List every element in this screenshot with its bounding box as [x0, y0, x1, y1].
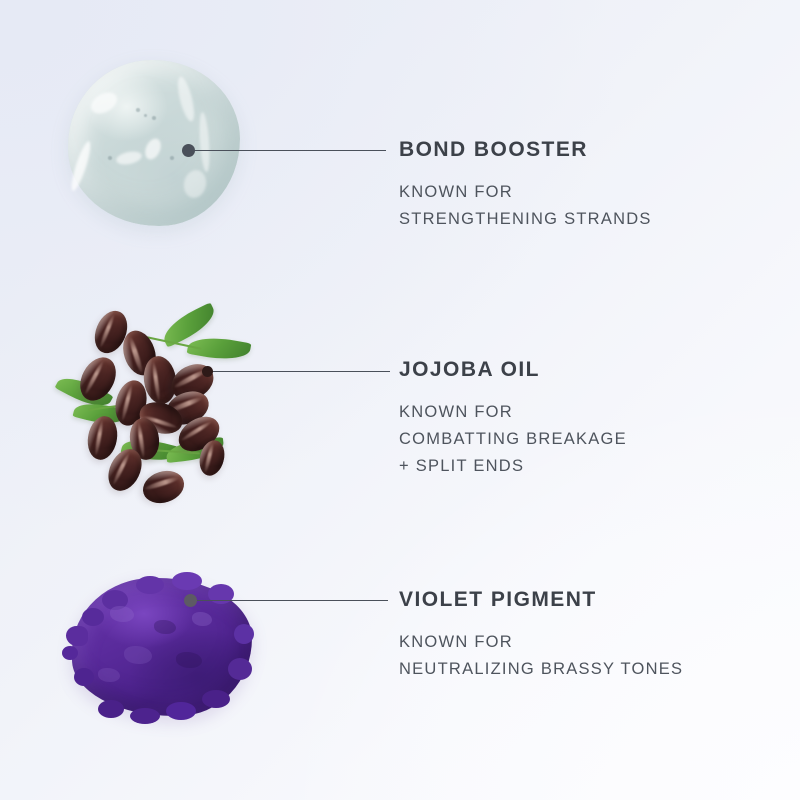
powder-grain-icon: [166, 702, 196, 720]
powder-texture-icon: [110, 606, 134, 622]
powder-grain-icon: [228, 658, 252, 680]
ingredient-text-bond-booster: BOND BOOSTER KNOWN FOR STRENGTHENING STR…: [399, 139, 652, 233]
powder-texture-icon: [192, 612, 212, 626]
powder-grain-icon: [172, 572, 202, 590]
ingredient-description: KNOWN FOR NEUTRALIZING BRASSY TONES: [399, 629, 683, 683]
powder-grain-icon: [202, 690, 230, 708]
powder-texture-icon: [176, 652, 202, 668]
ingredient-text-jojoba-oil: JOJOBA OIL KNOWN FOR COMBATTING BREAKAGE…: [399, 359, 627, 480]
leader-line-violet-pigment: [184, 594, 392, 608]
powder-grain-icon: [136, 576, 164, 594]
ingredient-title: BOND BOOSTER: [399, 139, 652, 160]
powder-grain-icon: [66, 626, 88, 646]
powder-grain-icon: [62, 646, 78, 660]
powder-grain-icon: [98, 700, 124, 718]
ingredient-description: KNOWN FOR STRENGTHENING STRANDS: [399, 179, 652, 233]
ingredient-title: VIOLET PIGMENT: [399, 589, 683, 610]
powder-grain-icon: [234, 624, 254, 644]
gel-speck-icon: [170, 156, 174, 160]
leader-line-bond-booster: [182, 144, 392, 158]
ingredient-title: JOJOBA OIL: [399, 359, 627, 380]
leader-line-jojoba-oil: [204, 365, 394, 379]
powder-grain-icon: [82, 608, 104, 626]
jojoba-seeds-image: [60, 300, 240, 505]
gel-speck-icon: [108, 156, 112, 160]
gel-speck-icon: [136, 108, 140, 112]
powder-grain-icon: [130, 708, 160, 724]
ingredient-text-violet-pigment: VIOLET PIGMENT KNOWN FOR NEUTRALIZING BR…: [399, 589, 683, 683]
powder-texture-icon: [124, 646, 152, 664]
ingredient-description: KNOWN FOR COMBATTING BREAKAGE + SPLIT EN…: [399, 399, 627, 480]
jojoba-seed-icon: [139, 466, 189, 508]
powder-texture-icon: [98, 668, 120, 682]
gel-speck-icon: [144, 114, 147, 117]
ingredient-infographic: BOND BOOSTER KNOWN FOR STRENGTHENING STR…: [0, 0, 800, 800]
gel-speck-icon: [152, 116, 156, 120]
powder-grain-icon: [74, 668, 94, 686]
powder-texture-icon: [154, 620, 176, 634]
